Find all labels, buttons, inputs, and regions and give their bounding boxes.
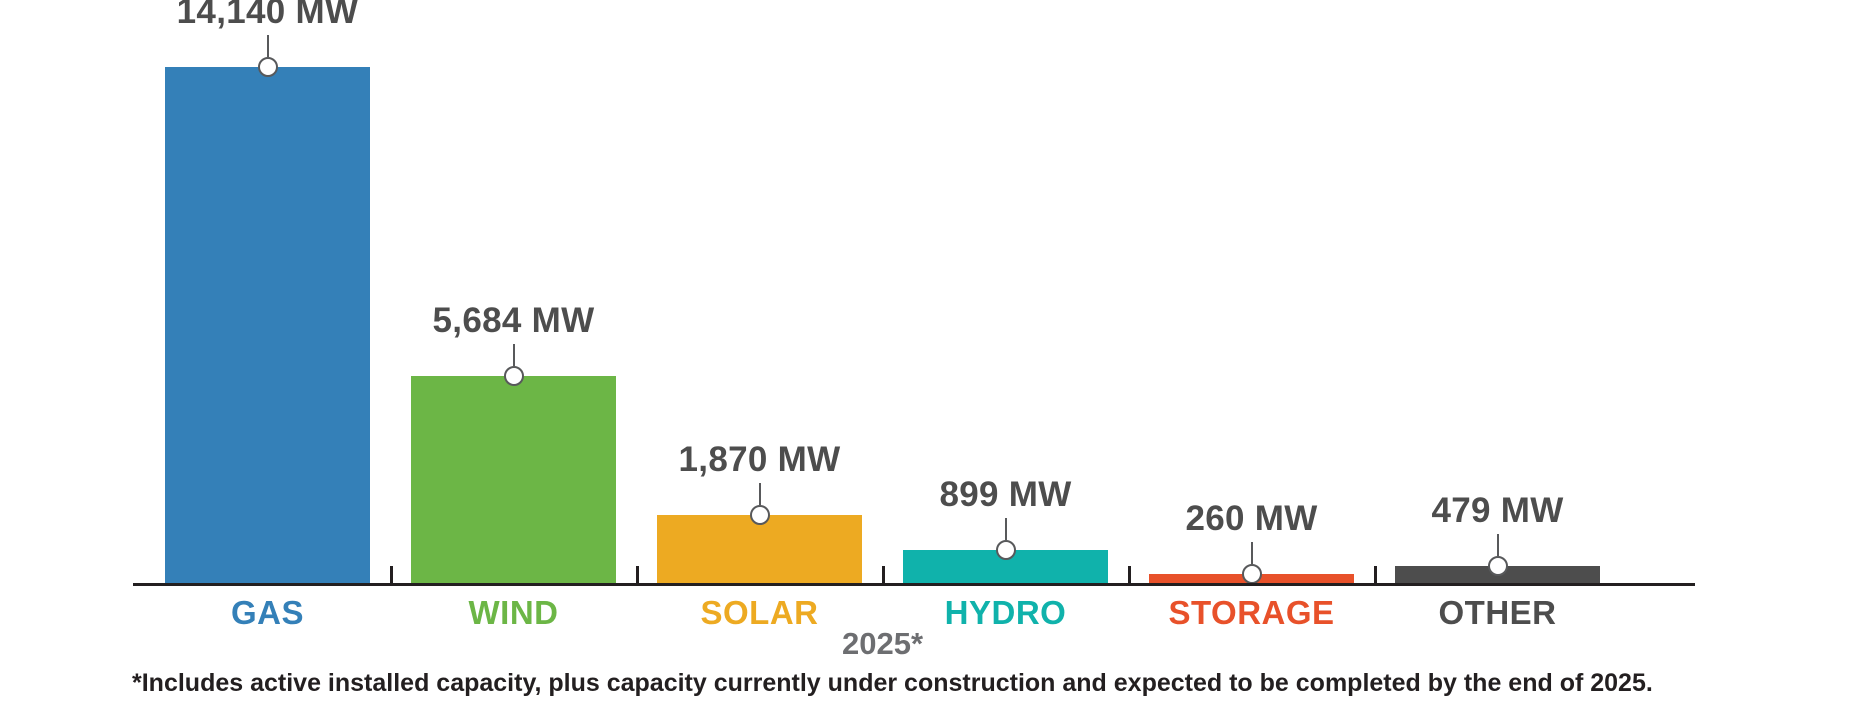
- axis-baseline: [133, 583, 1695, 586]
- category-label-wind: WIND: [411, 596, 616, 629]
- bar-solar: [657, 515, 862, 583]
- value-marker-gas: [258, 57, 278, 77]
- capacity-bar-chart: 14,140 MW5,684 MW1,870 MW899 MW260 MW479…: [0, 0, 1862, 721]
- x-axis-title: 2025*: [763, 628, 1003, 659]
- axis-tick-2: [636, 566, 639, 584]
- value-label-storage: 260 MW: [1185, 501, 1317, 536]
- value-stem-gas: [267, 35, 269, 57]
- axis-tick-5: [1374, 566, 1377, 584]
- value-stem-solar: [759, 483, 761, 505]
- value-marker-hydro: [996, 540, 1016, 560]
- value-label-gas: 14,140 MW: [177, 0, 359, 29]
- axis-tick-1: [390, 566, 393, 584]
- axis-tick-4: [1128, 566, 1131, 584]
- value-stem-storage: [1251, 542, 1253, 564]
- value-marker-wind: [504, 366, 524, 386]
- plot-area: 14,140 MW5,684 MW1,870 MW899 MW260 MW479…: [0, 0, 1862, 600]
- bar-wind: [411, 376, 616, 583]
- value-stem-hydro: [1005, 518, 1007, 540]
- value-label-hydro: 899 MW: [939, 477, 1071, 512]
- value-label-wind: 5,684 MW: [433, 303, 595, 338]
- category-label-other: OTHER: [1395, 596, 1600, 629]
- value-marker-storage: [1242, 564, 1262, 584]
- category-label-solar: SOLAR: [657, 596, 862, 629]
- value-label-solar: 1,870 MW: [679, 442, 841, 477]
- chart-footnote: *Includes active installed capacity, plu…: [132, 670, 1653, 698]
- category-label-hydro: HYDRO: [903, 596, 1108, 629]
- bar-gas: [165, 67, 370, 583]
- value-label-other: 479 MW: [1431, 493, 1563, 528]
- value-stem-other: [1497, 534, 1499, 556]
- value-marker-solar: [750, 505, 770, 525]
- category-label-gas: GAS: [165, 596, 370, 629]
- category-label-storage: STORAGE: [1149, 596, 1354, 629]
- axis-tick-3: [882, 566, 885, 584]
- value-stem-wind: [513, 344, 515, 366]
- value-marker-other: [1488, 556, 1508, 576]
